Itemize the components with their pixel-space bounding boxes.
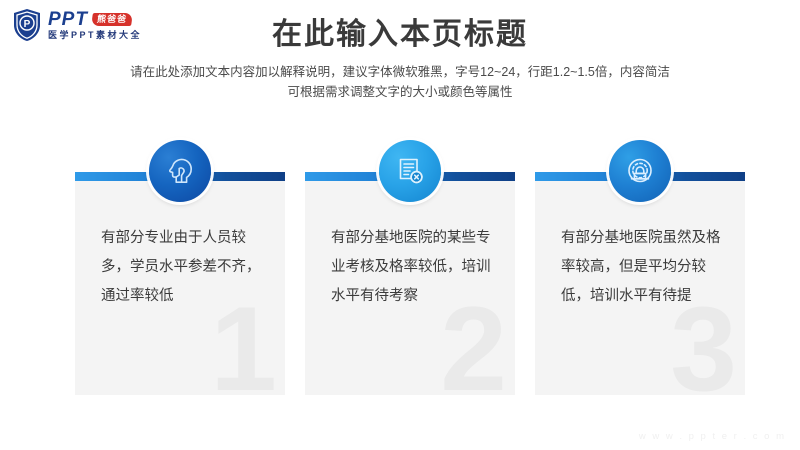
document-reject-icon	[379, 140, 441, 202]
card-text: 有部分专业由于人员较多，学员水平参差不齐，通过率较低	[101, 224, 267, 311]
card-row: 1 有部分专业由于人员较多，学员水平参差不齐，通过率较低 2 有部分基地医院的某…	[75, 172, 745, 395]
info-card-2[interactable]: 2 有部分基地医院的某些专业考核及格率较低，培训水平有待考察	[305, 172, 515, 395]
info-card-1[interactable]: 1 有部分专业由于人员较多，学员水平参差不齐，通过率较低	[75, 172, 285, 395]
subtitle-line-1: 请在此处添加文本内容加以解释说明，建议字体微软雅黑，字号12~24，行距1.2~…	[0, 62, 800, 82]
ct-scanner-icon	[609, 140, 671, 202]
card-text: 有部分基地医院虽然及格率较高，但是平均分较低，培训水平有待提	[561, 224, 727, 311]
footer-watermark: w w w . p p t e r . c o m	[639, 431, 786, 442]
info-card-3[interactable]: 3 有部分基地医院虽然及格率较高，但是平均分较低，培训水平有待提	[535, 172, 745, 395]
page-subtitle: 请在此处添加文本内容加以解释说明，建议字体微软雅黑，字号12~24，行距1.2~…	[0, 62, 800, 102]
subtitle-line-2: 可根据需求调整文字的大小或颜色等属性	[0, 82, 800, 102]
head-profile-icon	[149, 140, 211, 202]
card-text: 有部分基地医院的某些专业考核及格率较低，培训水平有待考察	[331, 224, 497, 311]
page-title: 在此输入本页标题	[0, 16, 800, 54]
